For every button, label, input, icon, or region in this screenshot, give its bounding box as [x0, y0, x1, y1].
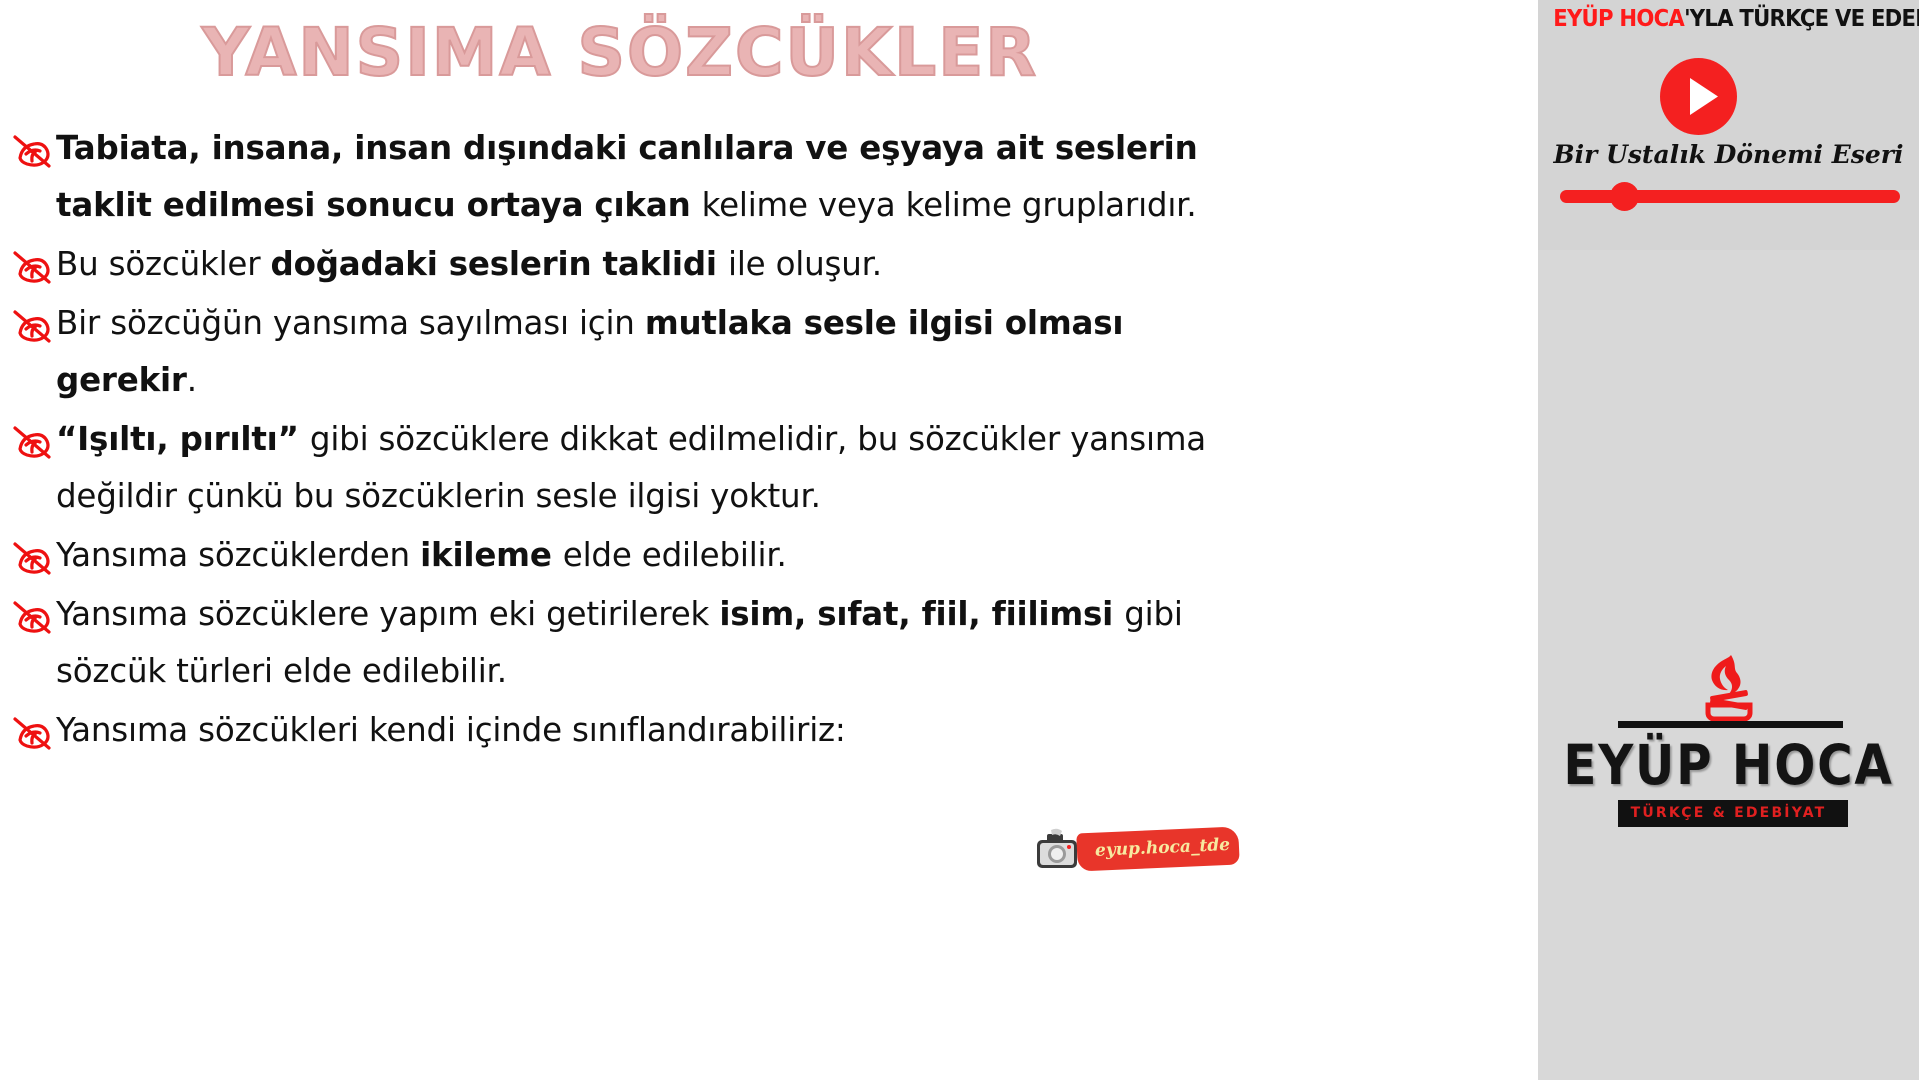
plain-text: elde edilebilir.	[563, 536, 787, 574]
list-item-text: Yansıma sözcükleri kendi içinde sınıflan…	[56, 702, 1258, 759]
quill-pen-icon	[8, 535, 56, 581]
list-item-text: Bu sözcükler doğadaki seslerin taklidi i…	[56, 236, 1258, 293]
plain-text: Yansıma sözcükleri kendi içinde sınıflan…	[56, 711, 846, 749]
logo-name: EYÜP HOCA	[1561, 733, 1896, 797]
quill-pen-icon	[8, 128, 56, 174]
plain-text: kelime veya kelime gruplarıdır.	[702, 186, 1197, 224]
play-circle-icon[interactable]	[1660, 58, 1737, 135]
list-item: Yansıma sözcükleri kendi içinde sınıflan…	[8, 702, 1258, 759]
page-title: YANSIMA SÖZCÜKLER	[0, 14, 1240, 91]
list-item-text: Tabiata, insana, insan dışındaki canlıla…	[56, 120, 1258, 234]
list-item-text: Yansıma sözcüklere yapım eki getirilerek…	[56, 586, 1258, 700]
emphasis-text: “Işıltı, pırıltı”	[56, 420, 310, 458]
right-sidebar: EYÜP HOCA'YLA TÜRKÇE VE EDEBİYAT Bir Ust…	[1538, 0, 1919, 1080]
instagram-camera-icon	[1035, 828, 1083, 874]
plain-text: ile oluşur.	[728, 245, 882, 283]
list-item: “Işıltı, pırıltı” gibi sözcüklere dikkat…	[8, 411, 1258, 525]
flame-brazier-icon	[1704, 655, 1754, 721]
channel-brand-name: EYÜP HOCA	[1553, 6, 1684, 32]
slide-canvas: YANSIMA SÖZCÜKLER Tabiata, insana, insan…	[0, 0, 1538, 1080]
emphasis-text: ikileme	[420, 536, 563, 574]
channel-headline-rest: 'YLA TÜRKÇE VE EDEBİYAT	[1684, 6, 1919, 32]
list-item-text: Yansıma sözcüklerden ikileme elde edileb…	[56, 527, 1258, 584]
logo-divider-rule	[1618, 721, 1843, 728]
list-item: Yansıma sözcüklere yapım eki getirilerek…	[8, 586, 1258, 700]
list-item: Yansıma sözcüklerden ikileme elde edileb…	[8, 527, 1258, 584]
watermark-stamp: eyup.hoca_tde	[1035, 820, 1240, 878]
logo-tagline: TÜRKÇE & EDEBİYAT	[1538, 805, 1919, 821]
quill-pen-icon	[8, 710, 56, 756]
emphasis-text: doğadaki seslerin taklidi	[271, 245, 728, 283]
plain-text: Bir sözcüğün yansıma sayılması için	[56, 304, 645, 342]
list-item: Bir sözcüğün yansıma sayılması için mutl…	[8, 295, 1258, 409]
brand-logo: EYÜP HOCA TÜRKÇE & EDEBİYAT	[1538, 655, 1919, 885]
emphasis-text: isim, sıfat, fiil, fiilimsi	[719, 595, 1124, 633]
plain-text: .	[187, 361, 197, 399]
channel-banner: EYÜP HOCA'YLA TÜRKÇE VE EDEBİYAT Bir Ust…	[1538, 0, 1919, 250]
list-item-text: “Işıltı, pırıltı” gibi sözcüklere dikkat…	[56, 411, 1258, 525]
quill-pen-icon	[8, 244, 56, 290]
list-item-text: Bir sözcüğün yansıma sayılması için mutl…	[56, 295, 1258, 409]
bullet-list: Tabiata, insana, insan dışındaki canlıla…	[8, 120, 1258, 761]
quill-pen-icon	[8, 303, 56, 349]
plain-text: Yansıma sözcüklere yapım eki getirilerek	[56, 595, 719, 633]
channel-headline: EYÜP HOCA'YLA TÜRKÇE VE EDEBİYAT	[1553, 6, 1904, 32]
quill-pen-icon	[8, 594, 56, 640]
list-item: Tabiata, insana, insan dışındaki canlıla…	[8, 120, 1258, 234]
quill-pen-icon	[8, 419, 56, 465]
list-item: Bu sözcükler doğadaki seslerin taklidi i…	[8, 236, 1258, 293]
plain-text: Bu sözcükler	[56, 245, 271, 283]
channel-subtitle: Bir Ustalık Dönemi Eseri	[1538, 140, 1919, 169]
progress-knob[interactable]	[1610, 182, 1639, 211]
plain-text: Yansıma sözcüklerden	[56, 536, 420, 574]
progress-bar[interactable]	[1560, 190, 1900, 203]
